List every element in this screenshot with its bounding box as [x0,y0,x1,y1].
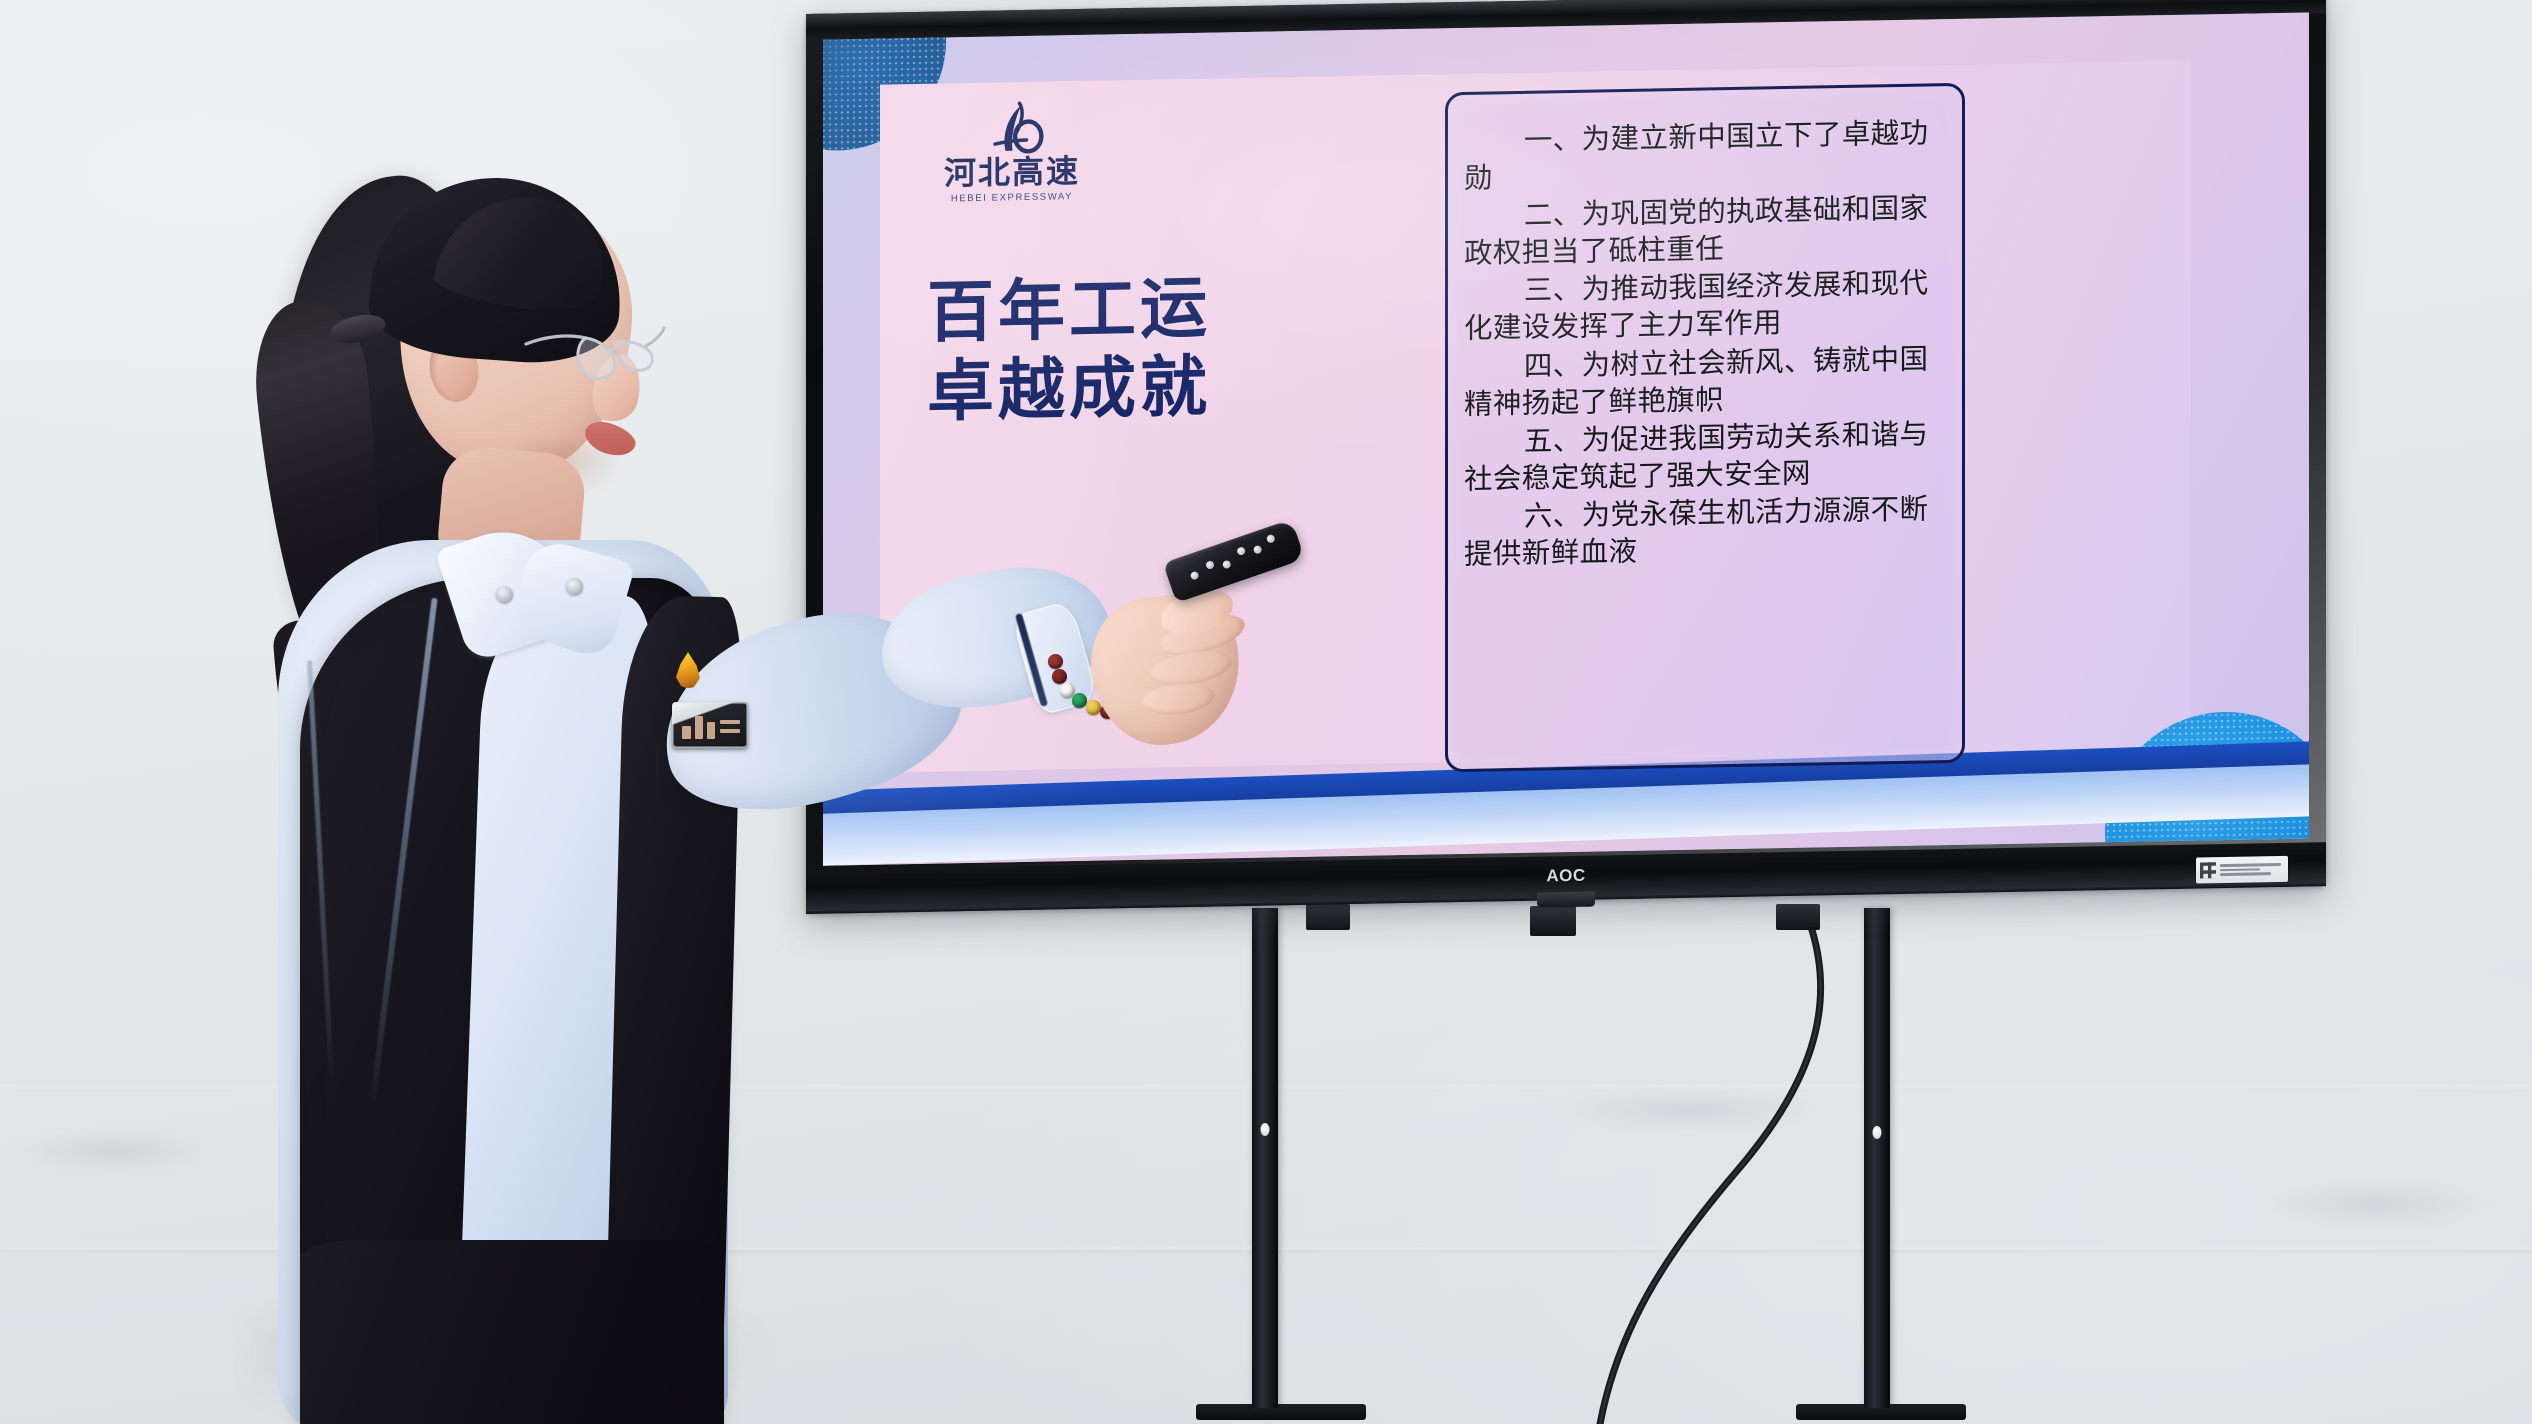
remote-button-4[interactable] [1236,546,1246,556]
glasses-icon [520,310,680,402]
presenter-remote[interactable] [1163,519,1305,603]
photo-scene: 河北高速 HEBEI EXPRESSWAY 百年工运 卓越成就 一、为建立新中国… [0,0,2532,1424]
presenter [0,0,2532,1424]
bracelet-bead-1 [1048,654,1063,669]
collar-pin-right-icon [566,578,583,595]
badge-bar-3 [707,722,715,739]
badge-bar-1 [682,726,691,739]
collar-pin-left-icon [496,586,513,603]
remote-button-3[interactable] [1222,559,1232,569]
bracelet-bead-5 [1086,700,1101,715]
remote-button-6[interactable] [1266,534,1276,544]
badge-bar-2 [695,716,703,739]
bracelet-bead-4 [1072,693,1087,708]
badge-bar-5 [720,729,740,733]
remote-button-1[interactable] [1190,571,1200,581]
remote-button-2[interactable] [1205,560,1215,570]
presenter-skirt [300,1240,724,1424]
bracelet-bead-2 [1052,669,1067,684]
badge-bar-4 [720,720,740,724]
remote-button-5[interactable] [1253,545,1263,555]
uniform-badge [672,702,748,748]
